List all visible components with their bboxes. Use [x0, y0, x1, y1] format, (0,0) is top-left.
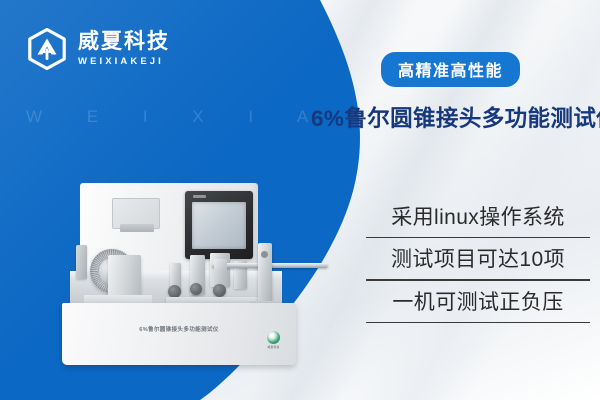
machine-side-panel	[112, 198, 160, 229]
hexagon-shield-icon	[27, 28, 67, 70]
mechanism-arm	[76, 245, 87, 279]
headline-badge: 高精准高性能	[381, 52, 520, 87]
brand-text-block: 威夏科技 WEIXIAKEJI	[78, 30, 170, 68]
machine-base: 6%鲁尔圆锥接头多功能测试仪 威夏科技	[62, 303, 296, 365]
certification-seal-icon: 威夏科技	[265, 331, 282, 351]
screen-indicator-strip	[193, 195, 206, 198]
brand-name-cn: 威夏科技	[78, 30, 170, 54]
fixture-knob	[190, 283, 202, 295]
seal-mark	[267, 331, 280, 344]
feature-label: 一机可测试正负压	[366, 281, 590, 322]
promo-banner: W E I X I A K E J I 威夏科技 WEIXIAKEJI 高精准高…	[0, 0, 600, 400]
mechanism-end-stand	[258, 243, 272, 305]
list-item: 测试项目可达10项	[366, 238, 590, 280]
fixture-knob	[213, 284, 226, 297]
feature-divider	[366, 322, 590, 323]
feature-list: 采用linux操作系统 测试项目可达10项 一机可测试正负压	[366, 196, 590, 323]
page-title: 6%鲁尔圆锥接头多功能测试仪	[311, 101, 600, 133]
brand-name-en: WEIXIAKEJI	[78, 56, 170, 67]
mechanism-rod-cap	[214, 259, 227, 272]
list-item: 一机可测试正负压	[366, 281, 590, 323]
screen-glass	[192, 202, 246, 249]
brand-logo: 威夏科技 WEIXIAKEJI	[27, 28, 170, 70]
feature-label: 采用linux操作系统	[366, 196, 590, 237]
hmi-touchscreen-icon	[185, 191, 253, 259]
seal-caption: 威夏科技	[268, 345, 280, 349]
feature-label: 测试项目可达10项	[366, 238, 590, 279]
product-image: 6%鲁尔圆锥接头多功能测试仪 威夏科技	[62, 183, 312, 380]
list-item: 采用linux操作系统	[366, 196, 590, 238]
machine-model-label: 6%鲁尔圆锥接头多功能测试仪	[62, 325, 296, 333]
